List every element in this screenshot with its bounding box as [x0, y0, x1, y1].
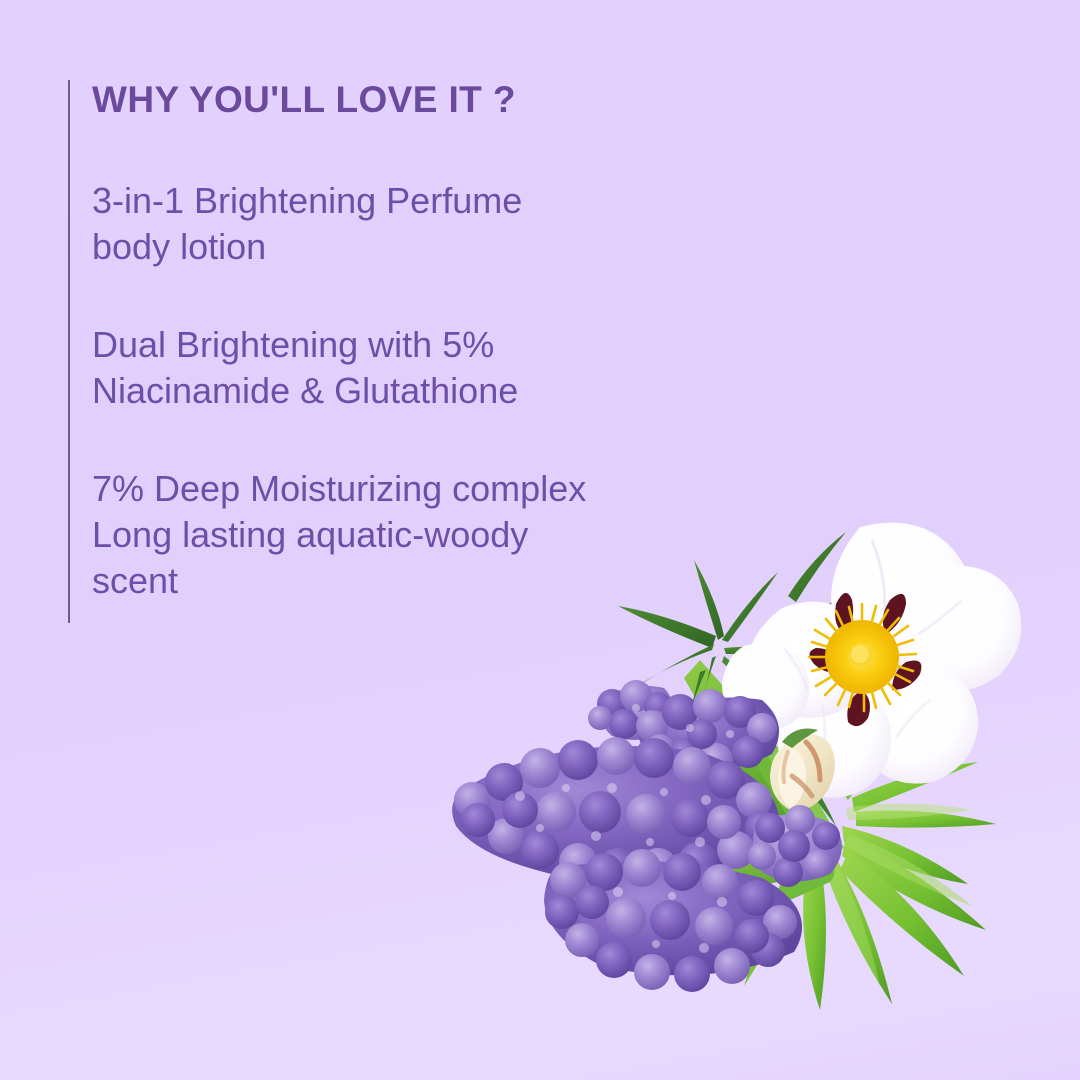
floret-highlights [515, 704, 734, 953]
petal-spots [809, 593, 921, 726]
promo-canvas: WHY YOU'LL LOVE IT ? 3-in-1 Brightening … [0, 0, 1080, 1080]
rosemary-needle-leaves [724, 678, 996, 1010]
lavender-spike [636, 689, 779, 777]
stamen-cluster [809, 604, 916, 711]
benefit-item-1: 3-in-1 Brightening Perfume body lotion [92, 178, 828, 270]
lavender-spike [544, 849, 802, 992]
green-stems [660, 660, 844, 934]
copy-block: WHY YOU'LL LOVE IT ? 3-in-1 Brightening … [68, 80, 828, 604]
flower-bud [770, 729, 835, 811]
lavender-spike [588, 680, 674, 741]
page-title: WHY YOU'LL LOVE IT ? [92, 80, 828, 121]
lavender-spikes [452, 680, 842, 992]
benefit-item-2: Dual Brightening with 5% Niacinamide & G… [92, 322, 828, 414]
benefit-item-3: 7% Deep Moisturizing complex Long lastin… [92, 466, 828, 604]
accent-rule [68, 80, 70, 623]
lavender-spike [452, 737, 779, 888]
lavender-spike [748, 805, 842, 887]
